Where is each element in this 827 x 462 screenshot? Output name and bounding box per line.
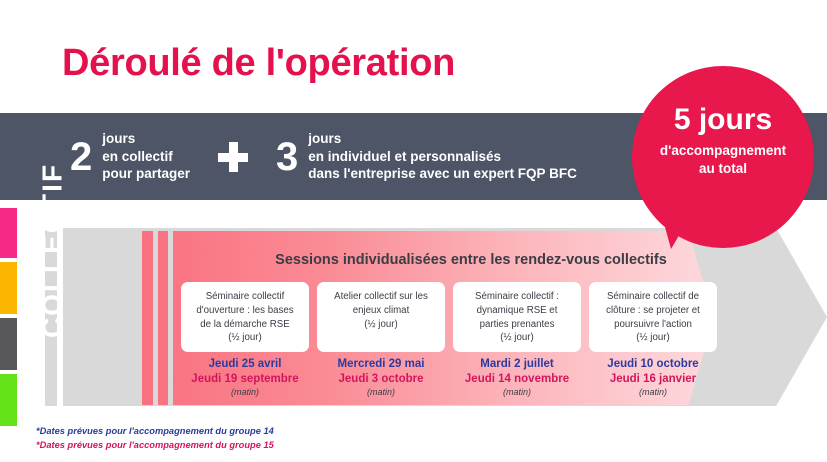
days-line-3: dans l'entreprise avec un expert FQP BFC	[308, 165, 577, 183]
pink-arrow-stripe-2	[168, 231, 173, 405]
days-line-2: en individuel et personnalisés	[308, 148, 577, 166]
session-dates: Jeudi 25 avril Jeudi 19 septembre (matin…	[181, 357, 723, 399]
footnote-groupe-14: *Dates prévues pour l'accompagnement du …	[36, 424, 274, 438]
session-card: Séminaire collectif de clôture : se proj…	[589, 282, 717, 352]
days-text-individuel: jours en individuel et personnalisés dan…	[308, 130, 577, 183]
date-period: (matin)	[317, 387, 445, 399]
card-duration: (½ jour)	[323, 318, 439, 332]
date-group-14: Mardi 2 juillet	[453, 357, 581, 372]
card-line-1: Séminaire collectif	[187, 290, 303, 304]
badge-subtitle-line-1: d'accompagnement	[632, 142, 814, 160]
date-group-15: Jeudi 19 septembre	[181, 372, 309, 387]
days-block-collectif: 2 jours en collectif pour partager	[70, 130, 190, 183]
date-column: Mercredi 29 mai Jeudi 3 octobre (matin)	[317, 357, 445, 399]
date-group-14: Jeudi 10 octobre	[589, 357, 717, 372]
badge-subtitle: d'accompagnement au total	[632, 142, 814, 178]
card-duration: (½ jour)	[595, 331, 711, 345]
badge-subtitle-line-2: au total	[632, 160, 814, 178]
days-line-3: pour partager	[102, 165, 190, 183]
date-column: Mardi 2 juillet Jeudi 14 novembre (matin…	[453, 357, 581, 399]
days-line-1: jours	[102, 130, 190, 148]
card-line-2: clôture : se projeter et	[595, 304, 711, 318]
card-line-1: Atelier collectif sur les	[323, 290, 439, 304]
date-period: (matin)	[453, 387, 581, 399]
card-duration: (½ jour)	[459, 331, 575, 345]
date-column: Jeudi 10 octobre Jeudi 16 janvier (matin…	[589, 357, 717, 399]
pink-arrow-stripe-1	[153, 231, 158, 405]
header-content: 2 jours en collectif pour partager 3 jou…	[70, 113, 577, 200]
days-text-collectif: jours en collectif pour partager	[102, 130, 190, 183]
total-days-badge: 5 jours d'accompagnement au total	[632, 66, 814, 248]
color-chip-pink	[0, 208, 17, 258]
footnotes: *Dates prévues pour l'accompagnement du …	[36, 424, 274, 453]
plus-icon	[218, 142, 248, 172]
card-line-2: d'ouverture : les bases	[187, 304, 303, 318]
date-group-15: Jeudi 3 octobre	[317, 372, 445, 387]
days-line-1: jours	[308, 130, 577, 148]
date-period: (matin)	[589, 387, 717, 399]
date-period: (matin)	[181, 387, 309, 399]
collectif-vertical-label: COLLECTIF	[30, 162, 75, 340]
color-chip-gray	[0, 318, 17, 370]
date-group-14: Jeudi 25 avril	[181, 357, 309, 372]
date-group-15: Jeudi 14 novembre	[453, 372, 581, 387]
date-group-15: Jeudi 16 janvier	[589, 372, 717, 387]
color-chip-amber	[0, 262, 17, 314]
date-group-14: Mercredi 29 mai	[317, 357, 445, 372]
session-card: Séminaire collectif d'ouverture : les ba…	[181, 282, 309, 352]
card-line-1: Séminaire collectif de	[595, 290, 711, 304]
card-line-2: dynamique RSE et	[459, 304, 575, 318]
color-chip-green	[0, 374, 17, 426]
session-card: Atelier collectif sur les enjeux climat …	[317, 282, 445, 352]
days-number-3: 3	[276, 137, 298, 177]
card-line-3: de la démarche RSE	[187, 318, 303, 332]
date-column: Jeudi 25 avril Jeudi 19 septembre (matin…	[181, 357, 309, 399]
session-card: Séminaire collectif : dynamique RSE et p…	[453, 282, 581, 352]
badge-number: 5 jours	[632, 104, 814, 136]
page-title: Déroulé de l'opération	[62, 42, 455, 85]
days-block-individuel: 3 jours en individuel et personnalisés d…	[276, 130, 577, 183]
session-cards: Séminaire collectif d'ouverture : les ba…	[181, 282, 723, 352]
card-line-3: poursuivre l'action	[595, 318, 711, 332]
card-line-2: enjeux climat	[323, 304, 439, 318]
card-line-1: Séminaire collectif :	[459, 290, 575, 304]
card-duration: (½ jour)	[187, 331, 303, 345]
sessions-banner-title: Sessions individualisées entre les rende…	[245, 252, 697, 268]
days-line-2: en collectif	[102, 148, 190, 166]
footnote-groupe-15: *Dates prévues pour l'accompagnement du …	[36, 438, 274, 452]
card-line-3: parties prenantes	[459, 318, 575, 332]
